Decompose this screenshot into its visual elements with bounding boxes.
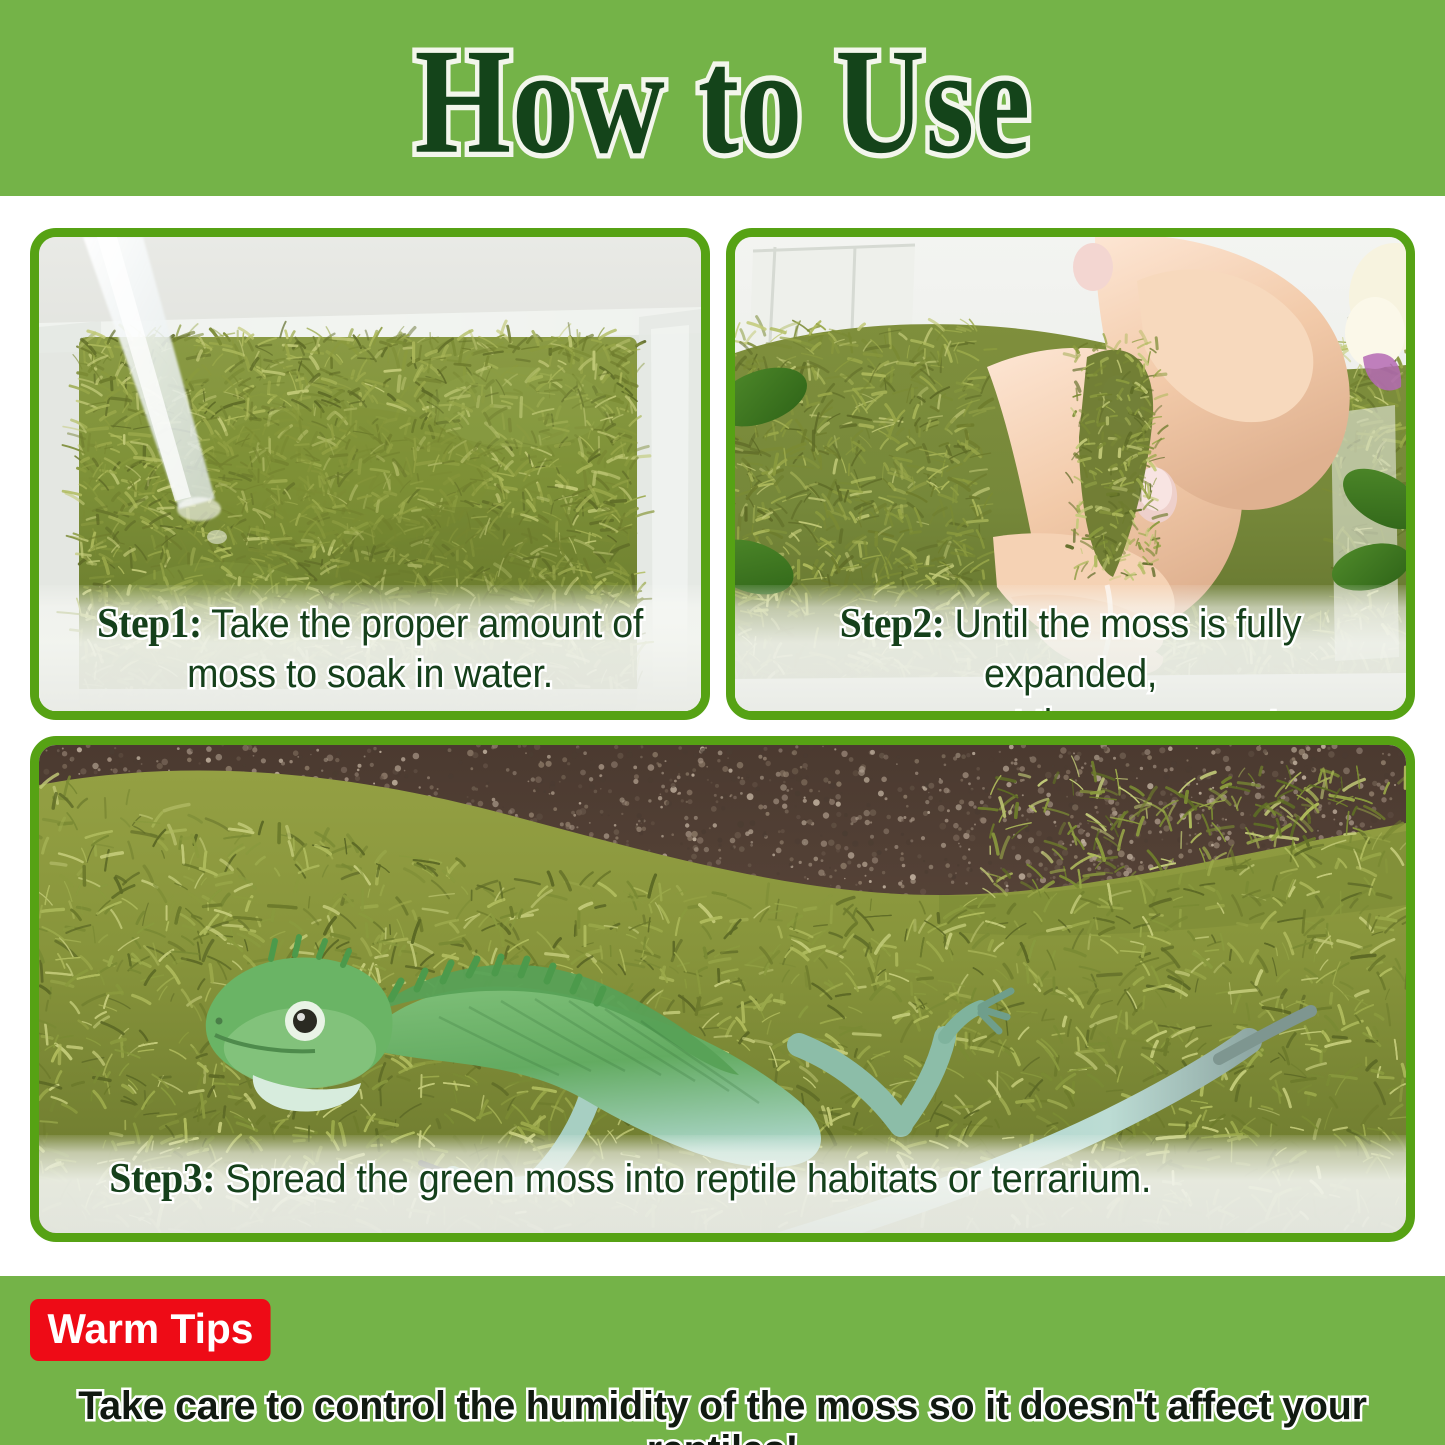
step-1-caption-line-1: Step1: Take the proper amount of — [72, 593, 668, 649]
step-2-caption-line-1: Step2: Until the moss is fully expanded, — [768, 593, 1372, 699]
footer-band: Warm Tips Take care to control the humid… — [0, 1276, 1445, 1445]
step-1-label: Step1: — [97, 601, 202, 647]
header-band: How to Use — [0, 0, 1445, 196]
step-3-caption-line-1: Step3: Spread the green moss into reptil… — [86, 1143, 1358, 1205]
step-2-label: Step2: — [840, 601, 945, 647]
step-1-panel: Step1: Take the proper amount of moss to… — [30, 228, 710, 720]
step-2-caption-text: Until the moss is fully expanded, — [955, 602, 1302, 696]
step-1-caption-line-2: moss to soak in water. — [72, 649, 668, 699]
step-3-caption: Step3: Spread the green moss into reptil… — [39, 1135, 1406, 1233]
page-title: How to Use — [414, 25, 1031, 176]
step-2-panel: Step2: Until the moss is fully expanded,… — [726, 228, 1415, 720]
step-3-label: Step3: — [109, 1156, 215, 1202]
step-3-panel: Step3: Spread the green moss into reptil… — [30, 736, 1415, 1242]
infographic-page: How to Use — [0, 0, 1445, 1445]
step-1-caption-text: Take the proper amount of — [211, 602, 643, 646]
step-2-caption: Step2: Until the moss is fully expanded,… — [735, 585, 1406, 711]
step-1-caption: Step1: Take the proper amount of moss to… — [39, 585, 701, 711]
step-2-caption-line-2: squeeze out the excess water. — [768, 699, 1372, 720]
warm-tips-text: Take care to control the humidity of the… — [11, 1384, 1434, 1445]
warm-tips-badge: Warm Tips — [30, 1299, 271, 1361]
step-3-caption-text: Spread the green moss into reptile habit… — [225, 1157, 1151, 1201]
